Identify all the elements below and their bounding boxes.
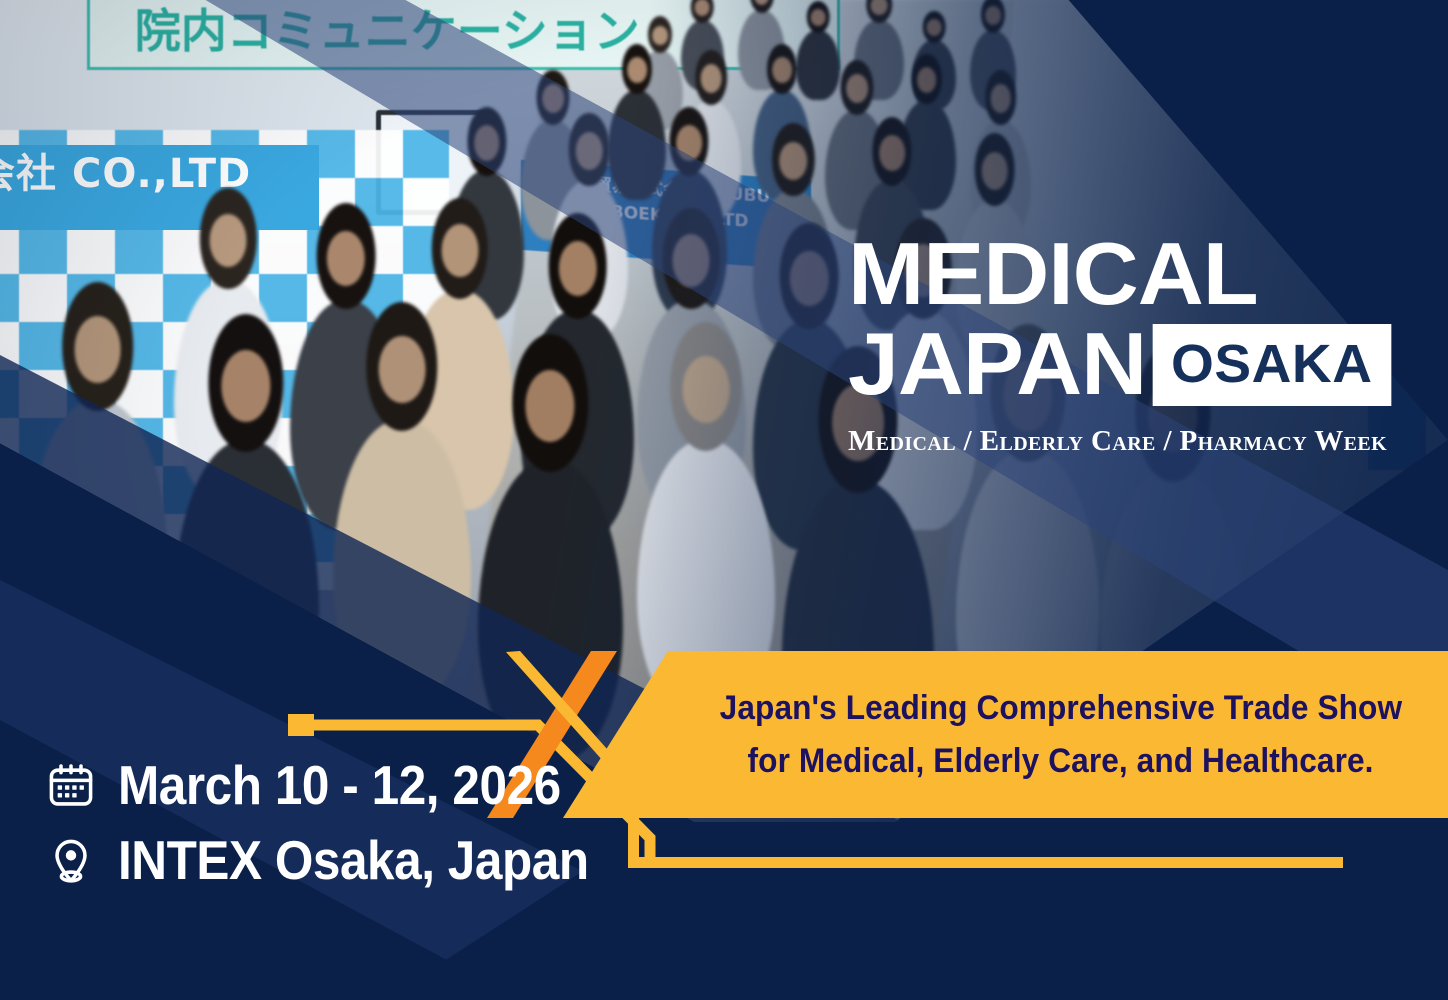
event-details: March 10 - 12, 2026 INTEX Osaka, Japan <box>46 758 641 888</box>
event-banner: Japan's Leading Comprehensive Trade Show… <box>0 0 1448 1000</box>
logo-row-japan-osaka: JAPAN OSAKA <box>848 322 1393 406</box>
logo-subtitle: Medical / Elderly Care / Pharmacy Week <box>848 425 1393 458</box>
event-date-label: March 10 - 12, 2026 <box>118 758 561 813</box>
event-venue-label: INTEX Osaka, Japan <box>118 833 589 888</box>
logo-word-japan: JAPAN <box>848 322 1146 406</box>
location-pin-icon <box>46 836 96 886</box>
osaka-badge: OSAKA <box>1152 324 1390 406</box>
event-venue-row: INTEX Osaka, Japan <box>46 833 641 888</box>
event-date-row: March 10 - 12, 2026 <box>46 758 641 813</box>
event-logo: MEDICAL JAPAN OSAKA Medical / Elderly Ca… <box>848 232 1393 458</box>
logo-word-medical: MEDICAL <box>848 232 1415 316</box>
calendar-icon <box>46 761 96 811</box>
